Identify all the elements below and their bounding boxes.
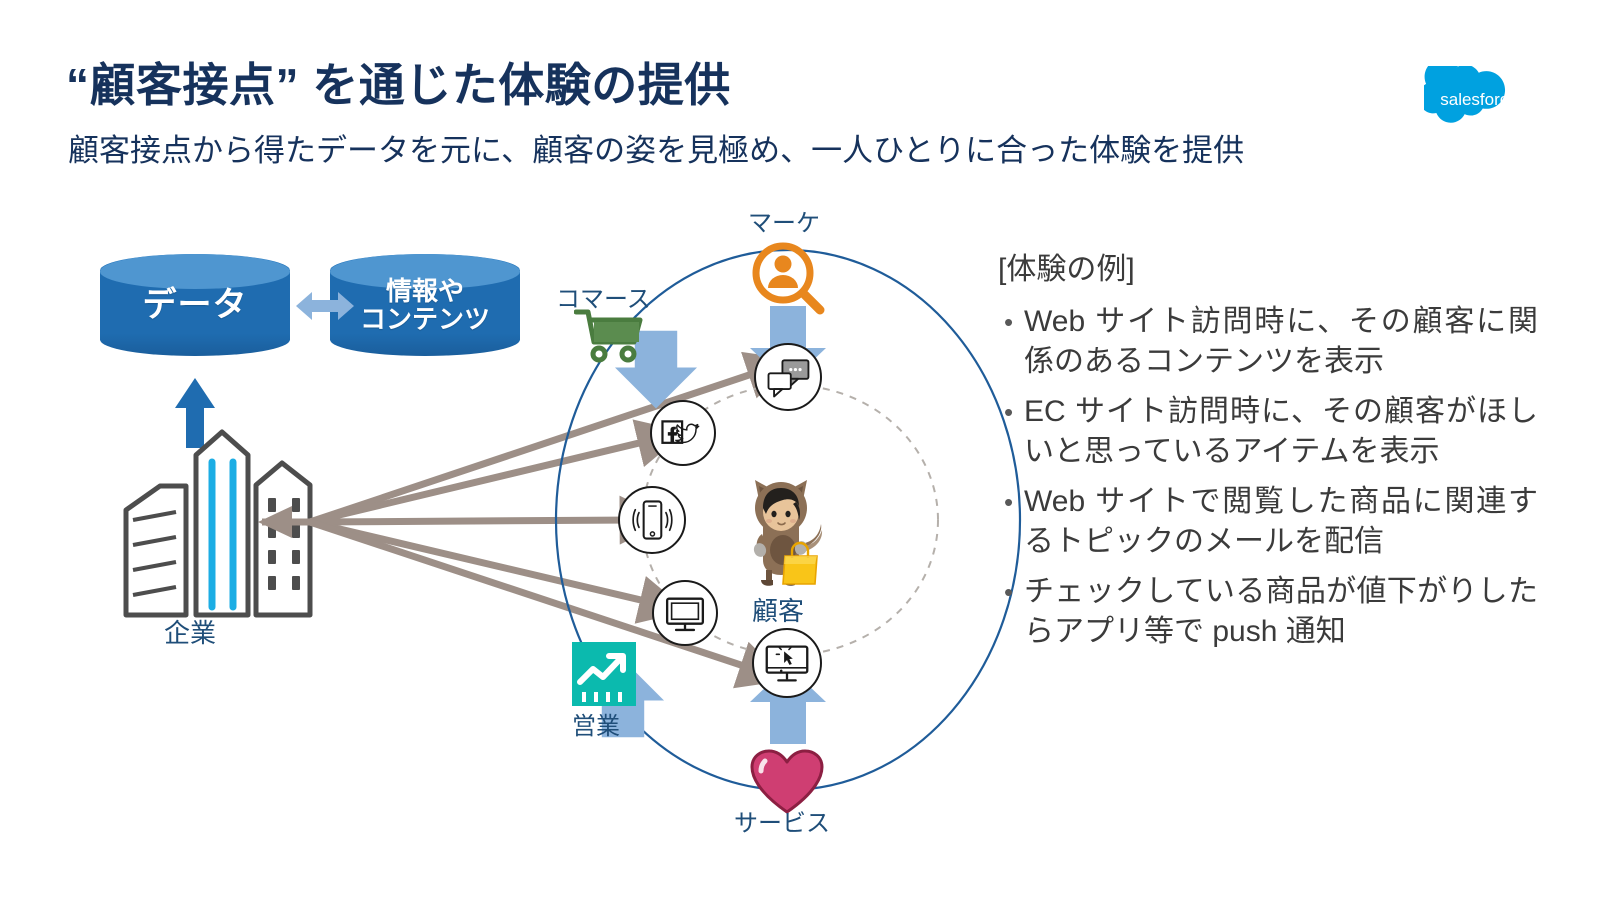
mobile-phone-icon [626,494,678,546]
example-bullet-row: • EC サイト訪問時に、その顧客がほしいと思っているアイテムを表示 [998,392,1538,472]
example-bullet-text: チェックしている商品が値下がりしたらアプリ等で push 通知 [1024,572,1538,652]
shopping-cart-icon [574,306,646,366]
office-building-icon [126,432,310,615]
example-bullet-row: • Web サイトで閲覧した商品に関連するトピックのメールを配信 [998,482,1538,562]
cylinder-content: 情報や コンテンツ [330,254,520,356]
example-bullet-text: Web サイト訪問時に、その顧客に関係のあるコンテンツを表示 [1024,302,1538,382]
touchpoint-service-label: サービス [734,812,830,836]
chat-bubbles-icon [762,351,814,403]
monitor-icon [660,588,710,638]
bullet-marker: • [998,572,1024,612]
slide-canvas: “顧客接点” を通じた体験の提供 顧客接点から得たデータを元に、顧客の姿を見極め… [0,0,1600,900]
example-bullet-row: • Web サイト訪問時に、その顧客に関係のあるコンテンツを表示 [998,302,1538,382]
channel-web-click[interactable] [752,628,822,698]
bullet-marker: • [998,302,1024,342]
salesforce-logo: salesforce [1424,66,1534,130]
trending-chart-icon [572,642,636,706]
touchpoint-commerce-label: コマース [556,288,651,312]
channel-chat[interactable] [754,343,822,411]
touchpoint-service[interactable] [748,748,826,816]
cylinder-content-line2: コンテンツ [360,304,490,334]
cylinder-content-line1: 情報や [386,276,464,306]
examples-heading: [体験の例] [998,252,1538,288]
cylinder-data-label: データ [143,287,248,324]
touchpoint-sales[interactable] [572,642,636,706]
cylinder-data: データ [100,254,290,356]
touchpoint-commerce[interactable] [574,306,646,366]
channel-social[interactable] [650,400,716,466]
salesforce-wordmark: salesforce [1440,90,1517,109]
cylinder-content-label: 情報や コンテンツ [360,277,490,333]
example-bullet-text: Web サイトで閲覧した商品に関連するトピックのメールを配信 [1024,482,1538,562]
examples-panel: [体験の例] • Web サイト訪問時に、その顧客に関係のあるコンテンツを表示 … [998,252,1538,662]
bullet-marker: • [998,392,1024,432]
astro-mascot-icon [735,472,827,590]
customer-label: 顧客 [752,598,804,624]
page-subtitle: 顧客接点から得たデータを元に、顧客の姿を見極め、一人ひとりに合った体験を提供 [68,132,1244,169]
channel-mobile[interactable] [618,486,686,554]
example-bullet-row: • チェックしている商品が値下がりしたらアプリ等で push 通知 [998,572,1538,652]
touchpoint-marketing-label: マーケ [748,212,820,236]
bullet-marker: • [998,482,1024,522]
monitor-click-icon [760,636,814,690]
touchpoint-sales-label: 営業 [572,715,620,739]
enterprise-label: 企業 [164,620,216,646]
page-title: “顧客接点” を通じた体験の提供 [66,60,731,111]
channel-display[interactable] [652,580,718,646]
upward-arrow-icon [175,378,215,448]
person-search-icon [748,240,828,320]
example-bullet-text: EC サイト訪問時に、その顧客がほしいと思っているアイテムを表示 [1024,392,1538,472]
touchpoint-marketing[interactable] [748,240,828,320]
social-media-icon [658,408,708,458]
heart-icon [748,748,826,816]
